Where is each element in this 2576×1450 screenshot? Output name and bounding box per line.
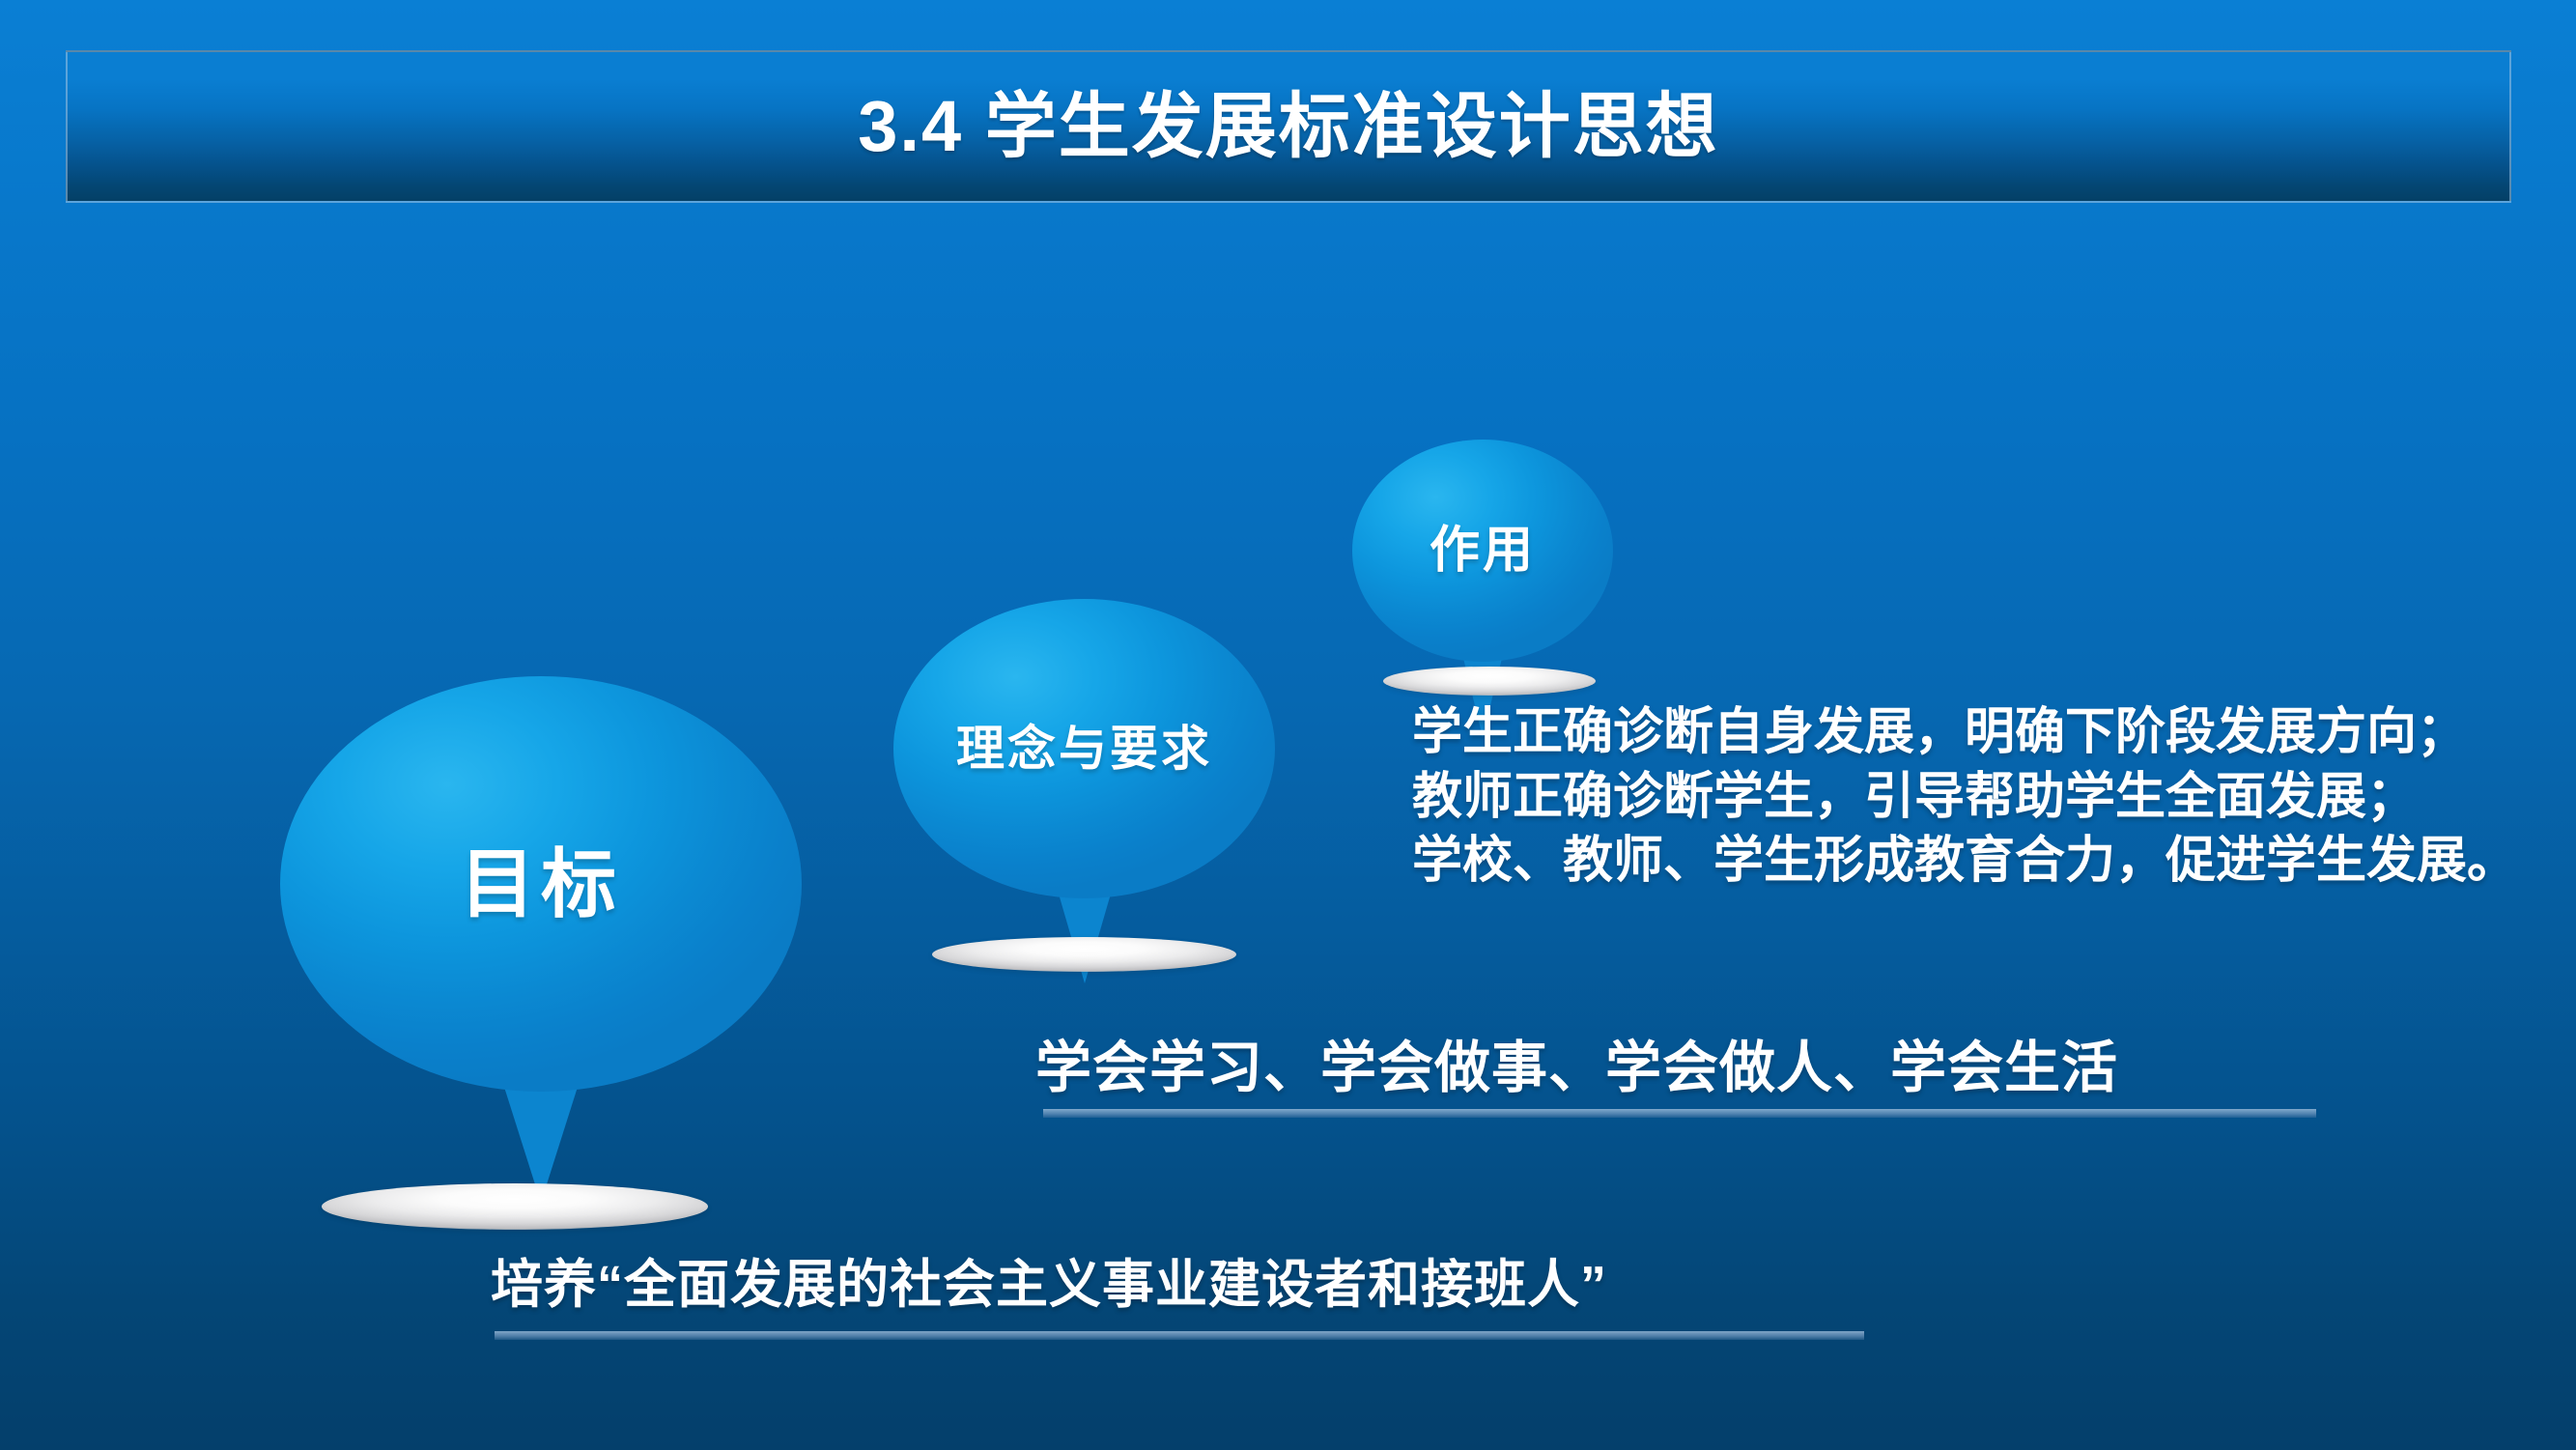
bubble-label-idea: 理念与要求 — [956, 725, 1212, 773]
bubble-body-goal: 目标 — [280, 676, 802, 1092]
bubble-idea[interactable]: 理念与要求 — [893, 599, 1275, 898]
bubble-label-goal: 目标 — [460, 846, 622, 922]
slide-canvas: 3.4 学生发展标准设计思想 作用 学生正确诊断自身发展，明确下阶段发展方向； … — [0, 0, 2576, 1450]
idea-detail-text: 学会学习、学会做事、学会做人、学会生活 — [1035, 1022, 2118, 1103]
bubble-goal[interactable]: 目标 — [280, 676, 802, 1092]
bubble-platform-goal — [322, 1183, 708, 1230]
bubble-platform-idea — [932, 937, 1236, 972]
bubble-body-role: 作用 — [1352, 440, 1613, 662]
page-title: 3.4 学生发展标准设计思想 — [858, 91, 1718, 162]
role-detail-line-2: 教师正确诊断学生，引导帮助学生全面发展； — [1412, 765, 2517, 830]
role-detail-text: 学生正确诊断自身发展，明确下阶段发展方向； 教师正确诊断学生，引导帮助学生全面发… — [1412, 700, 2517, 894]
goal-underline — [495, 1331, 1864, 1340]
bubble-body-idea: 理念与要求 — [893, 599, 1275, 898]
bubble-role[interactable]: 作用 — [1352, 440, 1613, 662]
idea-underline — [1043, 1109, 2316, 1118]
bubble-platform-role — [1383, 667, 1596, 696]
role-detail-line-1: 学生正确诊断自身发展，明确下阶段发展方向； — [1412, 700, 2517, 765]
slide-title-bar: 3.4 学生发展标准设计思想 — [66, 50, 2511, 203]
bubble-label-role: 作用 — [1430, 526, 1536, 576]
goal-detail-text: 培养“全面发展的社会主义事业建设者和接班人” — [491, 1241, 1607, 1318]
role-detail-line-3: 学校、教师、学生形成教育合力，促进学生发展。 — [1412, 829, 2517, 894]
